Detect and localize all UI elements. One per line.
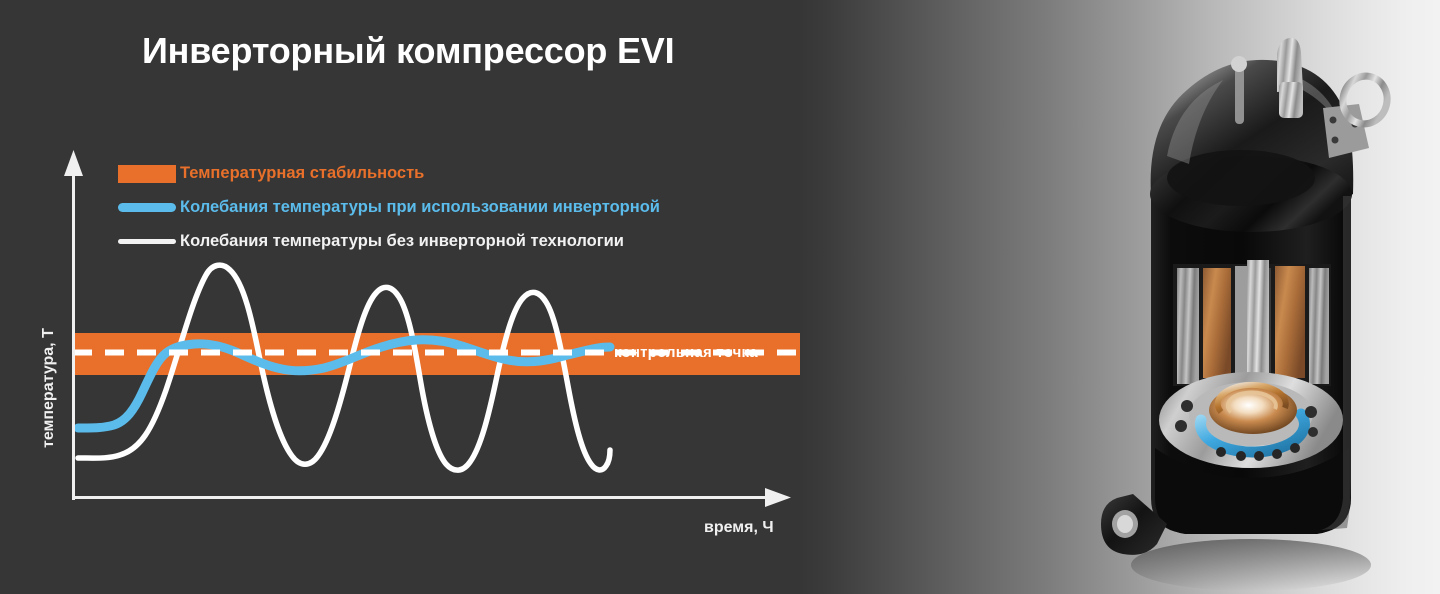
stator-lamination	[1309, 268, 1329, 384]
flange-bolt	[1272, 449, 1282, 459]
copper-winding	[1203, 268, 1231, 378]
bracket-bolt	[1330, 117, 1337, 124]
flange-bolt	[1254, 451, 1264, 461]
legend-swatch-wrap	[118, 239, 180, 244]
flange-bolt	[1175, 420, 1187, 432]
flange-bolt	[1181, 400, 1193, 412]
flange-bolt	[1290, 443, 1300, 453]
legend-swatch-wrap	[118, 203, 180, 212]
legend-item-stability: Температурная стабильность	[118, 160, 798, 187]
ground-reflection	[1131, 539, 1371, 591]
stator-lamination	[1177, 268, 1199, 384]
service-pin-cap	[1231, 56, 1247, 72]
legend-swatch-band-icon	[118, 165, 176, 183]
drive-shaft	[1247, 260, 1269, 390]
temperature-chart: температура, Т время, Ч контрольная точк…	[0, 0, 860, 594]
compressor-illustration	[1055, 28, 1440, 594]
legend-label-stability: Температурная стабильность	[180, 165, 424, 182]
y-axis-label: температура, Т	[24, 88, 42, 268]
flange-bolt	[1305, 406, 1317, 418]
y-axis-label-text: температура, Т	[40, 268, 58, 448]
legend-swatch-wrap	[118, 165, 180, 183]
legend-item-non-inverter: Колебания температуры без инверторной те…	[118, 228, 798, 255]
flange-bolt	[1308, 427, 1318, 437]
chart-svg	[0, 0, 860, 594]
stator-lamination	[1235, 266, 1249, 384]
bracket-bolt	[1332, 137, 1339, 144]
control-point-annotation: контрольная точка	[614, 344, 758, 361]
screenshot-root: Инверторный компрессор EVI	[0, 0, 1440, 594]
y-axis-arrow-icon	[64, 150, 83, 176]
legend-label-inverter: Колебания температуры при использовании …	[180, 199, 660, 216]
flange-bolt	[1236, 451, 1246, 461]
legend-label-non-inverter: Колебания температуры без инверторной те…	[180, 233, 624, 250]
copper-winding	[1275, 266, 1305, 378]
mounting-hole-inner	[1117, 515, 1133, 533]
chart-legend: Температурная стабильность Колебания тем…	[118, 160, 798, 262]
left-info-panel: Инверторный компрессор EVI	[0, 0, 860, 594]
x-axis-label: время, Ч	[704, 519, 774, 537]
x-axis-arrow-icon	[765, 488, 791, 507]
legend-item-inverter: Колебания температуры при использовании …	[118, 194, 798, 221]
legend-swatch-white-line-icon	[118, 239, 176, 244]
suction-tube	[1279, 82, 1303, 118]
legend-swatch-blue-line-icon	[118, 203, 176, 212]
compressor-product-image	[1055, 28, 1440, 594]
flange-bolt	[1216, 447, 1226, 457]
